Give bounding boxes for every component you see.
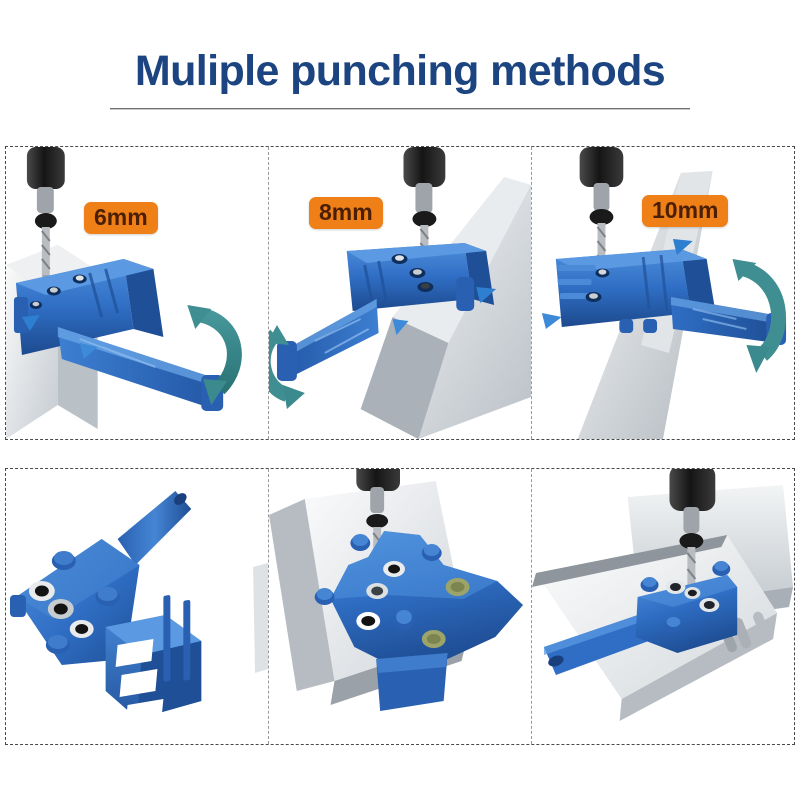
panel-8mm[interactable]: 8mm [268, 147, 531, 439]
workpiece-board [361, 177, 531, 439]
scene-top-down-edge-drill [269, 469, 531, 744]
title-divider [110, 108, 690, 110]
top-row: 6mm [5, 146, 795, 440]
scene-edge-drill-angled-board [269, 147, 531, 439]
scene-panel-join-with-dowels [532, 469, 794, 744]
scene-edge-drill-flat-board [532, 147, 794, 439]
panel-dowel-pins[interactable] [531, 469, 794, 744]
panel-jig-parts[interactable] [6, 469, 268, 744]
size-badge-8mm: 8mm [309, 197, 383, 229]
page-title: Muliple punching methods [0, 44, 800, 98]
size-badge-6mm: 6mm [84, 202, 158, 234]
header: Muliple punching methods [0, 0, 800, 132]
scene-edge-drill-vertical-board [6, 147, 268, 439]
panel-top-down-drill[interactable] [268, 469, 531, 744]
scene-jig-parts-exploded [6, 469, 268, 744]
panel-6mm[interactable]: 6mm [6, 147, 268, 439]
panel-10mm[interactable]: 10mm [531, 147, 794, 439]
size-badge-10mm: 10mm [642, 195, 728, 227]
bottom-row [5, 468, 795, 745]
